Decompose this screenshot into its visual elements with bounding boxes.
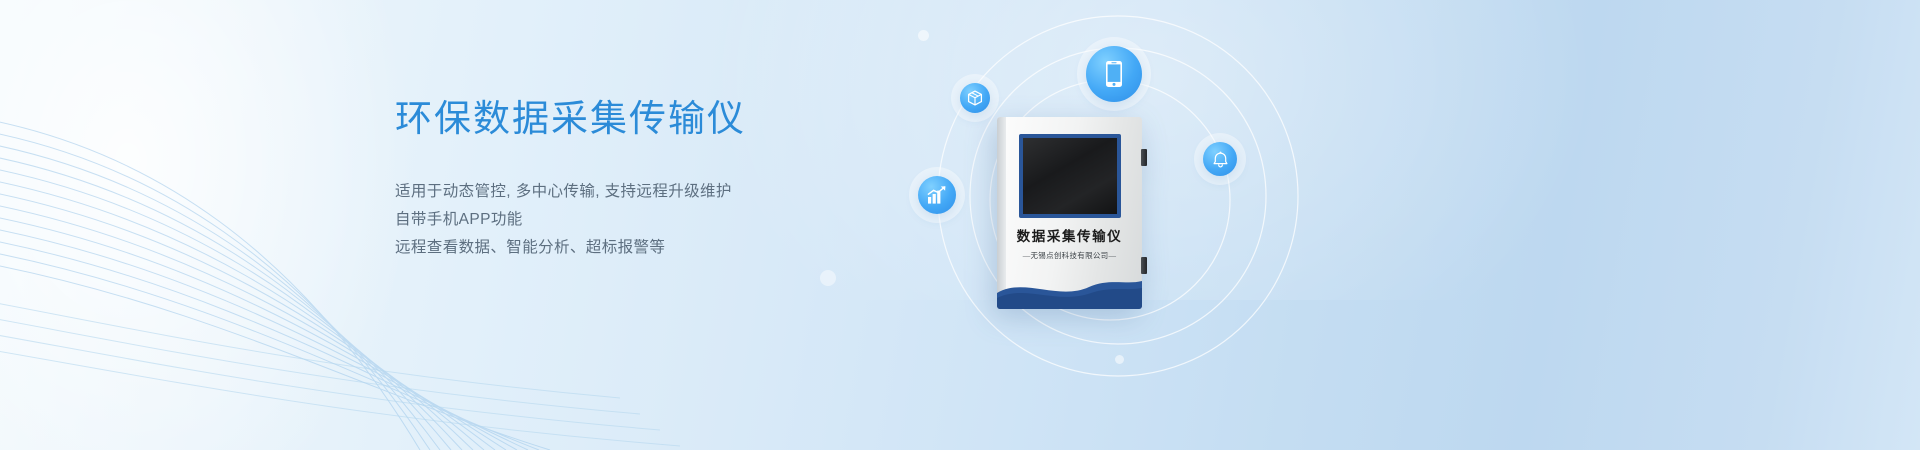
device-company-text: —无锡点创科技有限公司— [997,250,1142,261]
device-screen-bezel [1019,134,1121,218]
decorative-dot [918,30,929,41]
device-screen [1023,138,1117,214]
tagline-line: 远程查看数据、智能分析、超标报警等 [395,234,915,262]
device-side-port [1141,257,1147,274]
product-visual: 数据采集传输仪 —无锡点创科技有限公司— [860,0,1360,450]
decorative-dot [820,270,836,286]
banner-copy: 环保数据采集传输仪 适用于动态管控, 多中心传输, 支持远程升级维护 自带手机A… [395,96,915,262]
data-acquisition-device: 数据采集传输仪 —无锡点创科技有限公司— [997,117,1142,309]
device-bottom-wave [997,271,1142,309]
mobile-phone-icon[interactable] [1086,46,1142,102]
tagline-line: 自带手机APP功能 [395,206,915,234]
device-side-port [1141,149,1147,166]
bar-chart-growth-icon[interactable] [918,176,956,214]
cube-package-icon[interactable] [960,83,990,113]
tagline-list: 适用于动态管控, 多中心传输, 支持远程升级维护 自带手机APP功能 远程查看数… [395,178,915,262]
product-banner: 环保数据采集传输仪 适用于动态管控, 多中心传输, 支持远程升级维护 自带手机A… [0,0,1920,450]
page-title: 环保数据采集传输仪 [395,96,915,142]
device-name-text: 数据采集传输仪 [997,225,1142,245]
device-nameplate: 数据采集传输仪 —无锡点创科技有限公司— [997,225,1142,261]
decorative-dot [1115,355,1124,364]
alarm-bell-icon[interactable] [1203,142,1237,176]
tagline-line: 适用于动态管控, 多中心传输, 支持远程升级维护 [395,178,915,206]
